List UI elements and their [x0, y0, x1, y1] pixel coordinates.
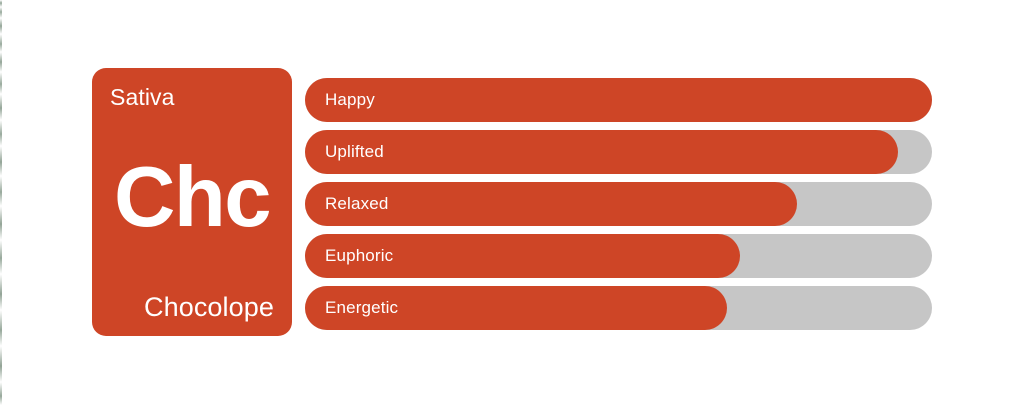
strain-effects-infographic: Sativa Chc Chocolope Happy Uplifted Rela…: [0, 0, 1020, 405]
effect-row[interactable]: Uplifted: [305, 130, 932, 174]
effect-bar-fill: [305, 78, 932, 122]
effect-row[interactable]: Happy: [305, 78, 932, 122]
effect-row[interactable]: Energetic: [305, 286, 932, 330]
effect-label: Relaxed: [325, 182, 388, 226]
strain-card[interactable]: Sativa Chc Chocolope: [92, 68, 292, 336]
left-edge-artifact: [0, 0, 2, 405]
effects-bar-chart: Happy Uplifted Relaxed Euphoric Energeti…: [305, 78, 932, 330]
effect-label: Euphoric: [325, 234, 393, 278]
effect-label: Uplifted: [325, 130, 384, 174]
strain-name-label: Chocolope: [110, 290, 274, 324]
strain-abbreviation: Chc: [110, 154, 274, 242]
effect-bar-fill: [305, 130, 898, 174]
effect-row[interactable]: Relaxed: [305, 182, 932, 226]
effect-label: Happy: [325, 78, 375, 122]
effect-row[interactable]: Euphoric: [305, 234, 932, 278]
effect-label: Energetic: [325, 286, 398, 330]
strain-type-label: Sativa: [110, 82, 274, 112]
